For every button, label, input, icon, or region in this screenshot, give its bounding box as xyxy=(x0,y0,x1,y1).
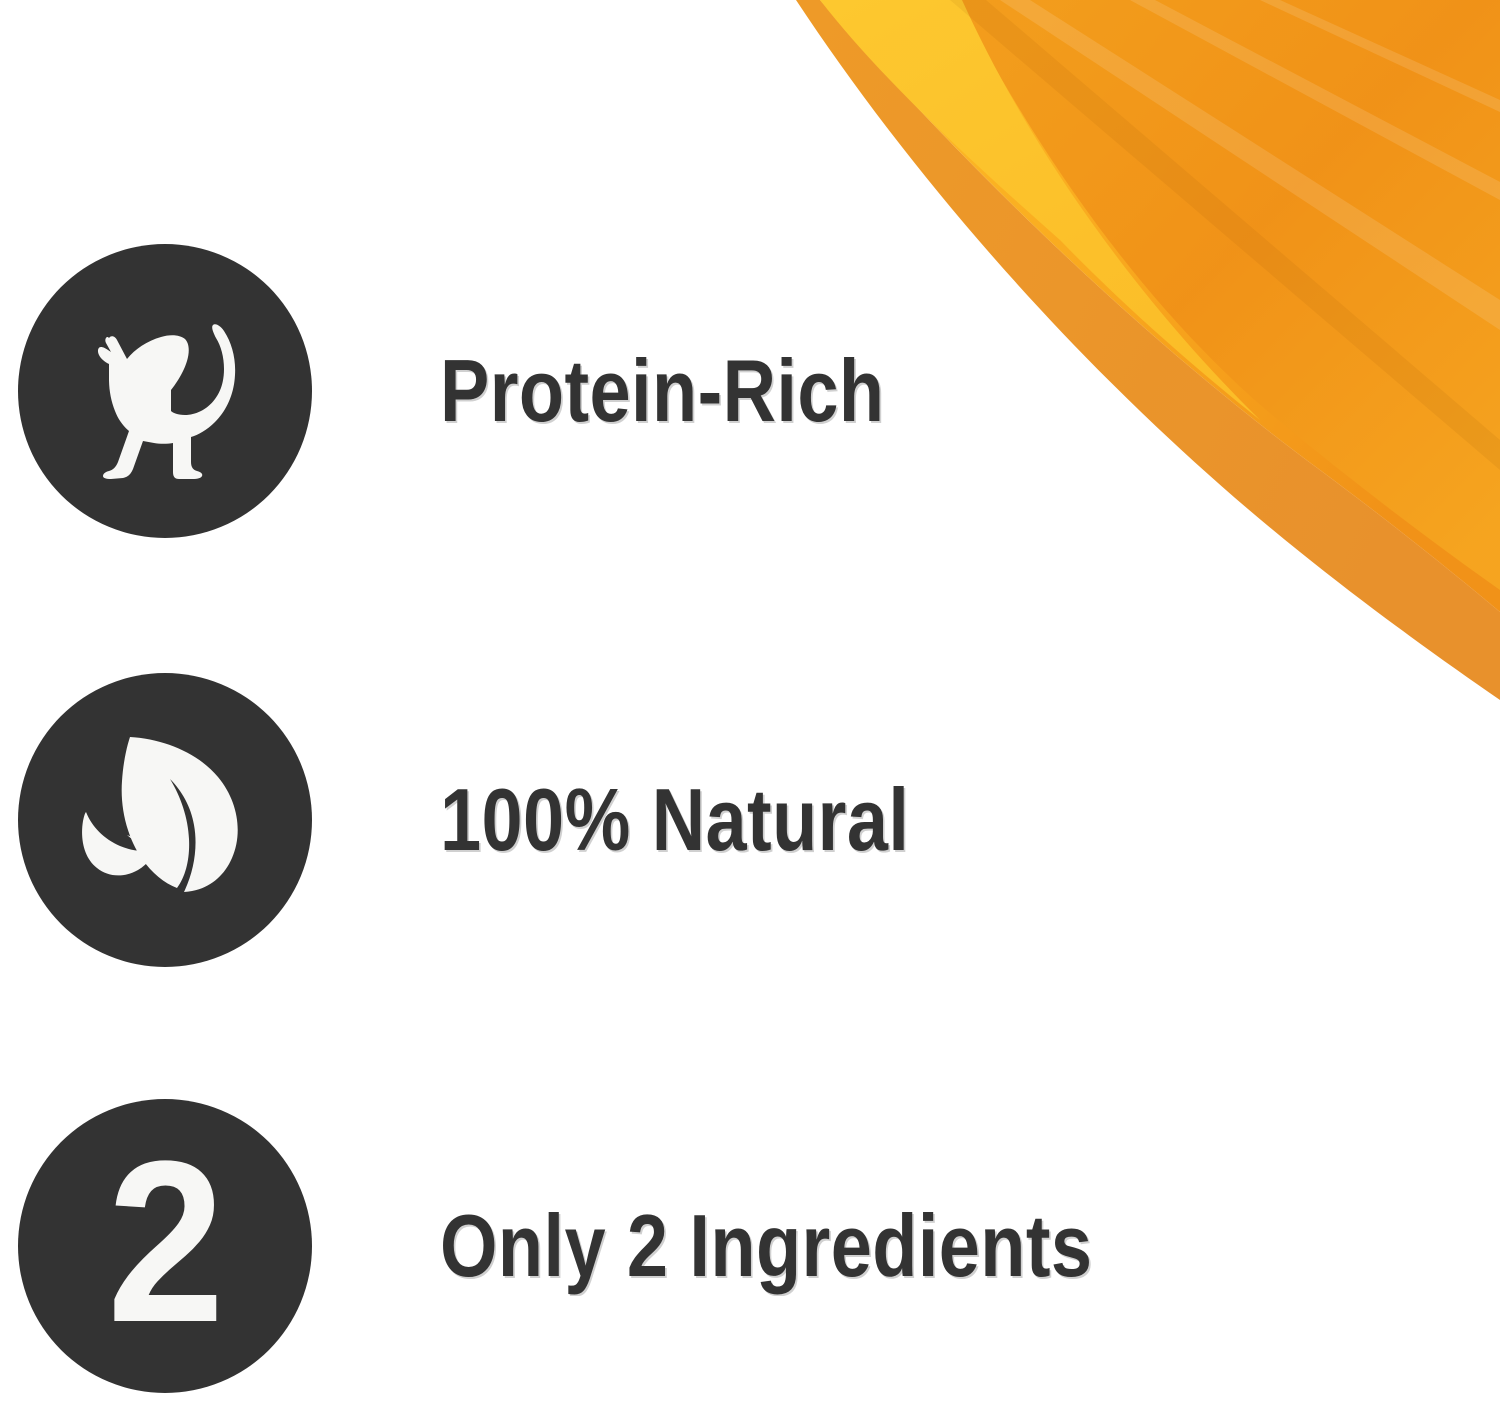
number-two-glyph: 2 xyxy=(107,1127,223,1357)
feature-row: 2 Only 2 Ingredients xyxy=(0,1096,1500,1396)
feature-row: 100% Natural xyxy=(0,670,1500,970)
feature-label-1: 100% Natural xyxy=(440,776,909,864)
feature-row: Protein-Rich xyxy=(0,241,1500,541)
badge-circle-number-two: 2 xyxy=(18,1099,312,1393)
badge-circle-cat xyxy=(18,244,312,538)
product-feature-graphic: Protein-Rich 100% Natural 2 Only 2 Ingre… xyxy=(0,0,1500,1411)
cat-icon xyxy=(65,291,265,491)
leaf-icon xyxy=(60,715,270,925)
feature-label-0: Protein-Rich xyxy=(440,347,884,435)
feature-label-2: Only 2 Ingredients xyxy=(440,1202,1092,1290)
badge-circle-leaf xyxy=(18,673,312,967)
